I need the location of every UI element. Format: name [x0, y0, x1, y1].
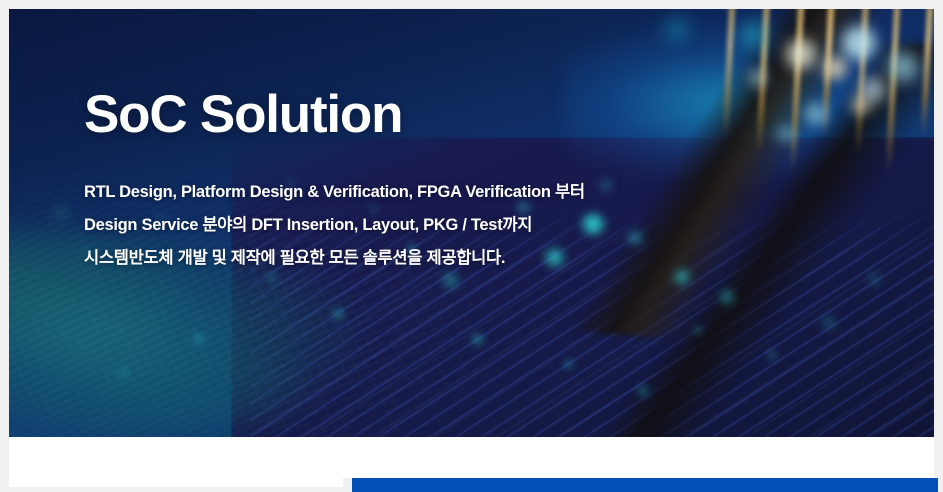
bokeh-dot [749, 69, 767, 87]
connector-pin [723, 9, 736, 136]
hero-subtitle-line-1: RTL Design, Platform Design & Verificati… [84, 176, 585, 209]
bokeh-dot [768, 351, 777, 360]
content-strip [9, 437, 934, 478]
hero-subtitle: RTL Design, Platform Design & Verificati… [84, 176, 585, 275]
bokeh-dot [786, 39, 816, 69]
connector-pin [789, 9, 804, 172]
hero-subtitle-line-2: Design Service 분야의 DFT Insertion, Layout… [84, 209, 585, 242]
bokeh-dot [564, 360, 573, 369]
bokeh-dot [851, 95, 871, 115]
bokeh-dot [740, 22, 766, 48]
bokeh-dot [888, 52, 918, 82]
bokeh-dot [842, 26, 876, 60]
hero-subtitle-line-3: 시스템반도체 개발 및 제작에 필요한 모든 솔루션을 제공합니다. [84, 242, 585, 275]
page-title: SoC Solution [84, 87, 585, 143]
bokeh-dot [823, 56, 847, 80]
hero-copy: SoC Solution RTL Design, Platform Design… [84, 87, 585, 275]
hero-banner: SoC Solution RTL Design, Platform Design… [9, 9, 934, 437]
bokeh-dot [472, 334, 483, 345]
bokeh-dot [629, 232, 641, 244]
bokeh-dot [805, 103, 827, 125]
bokeh-dot [777, 125, 795, 143]
connector-pin [920, 9, 933, 136]
page-root: SoC Solution RTL Design, Platform Design… [0, 0, 943, 492]
bokeh-dot [120, 369, 128, 377]
connector-pin [885, 9, 900, 172]
bokeh-dot [694, 326, 702, 334]
bottom-left-white [9, 478, 343, 487]
bokeh-dot [666, 18, 688, 40]
bokeh-dot [333, 309, 343, 319]
bokeh-dot [583, 214, 603, 234]
bottom-accent-bar [352, 478, 938, 492]
bokeh-dot [638, 386, 648, 396]
bokeh-dot [675, 270, 689, 284]
